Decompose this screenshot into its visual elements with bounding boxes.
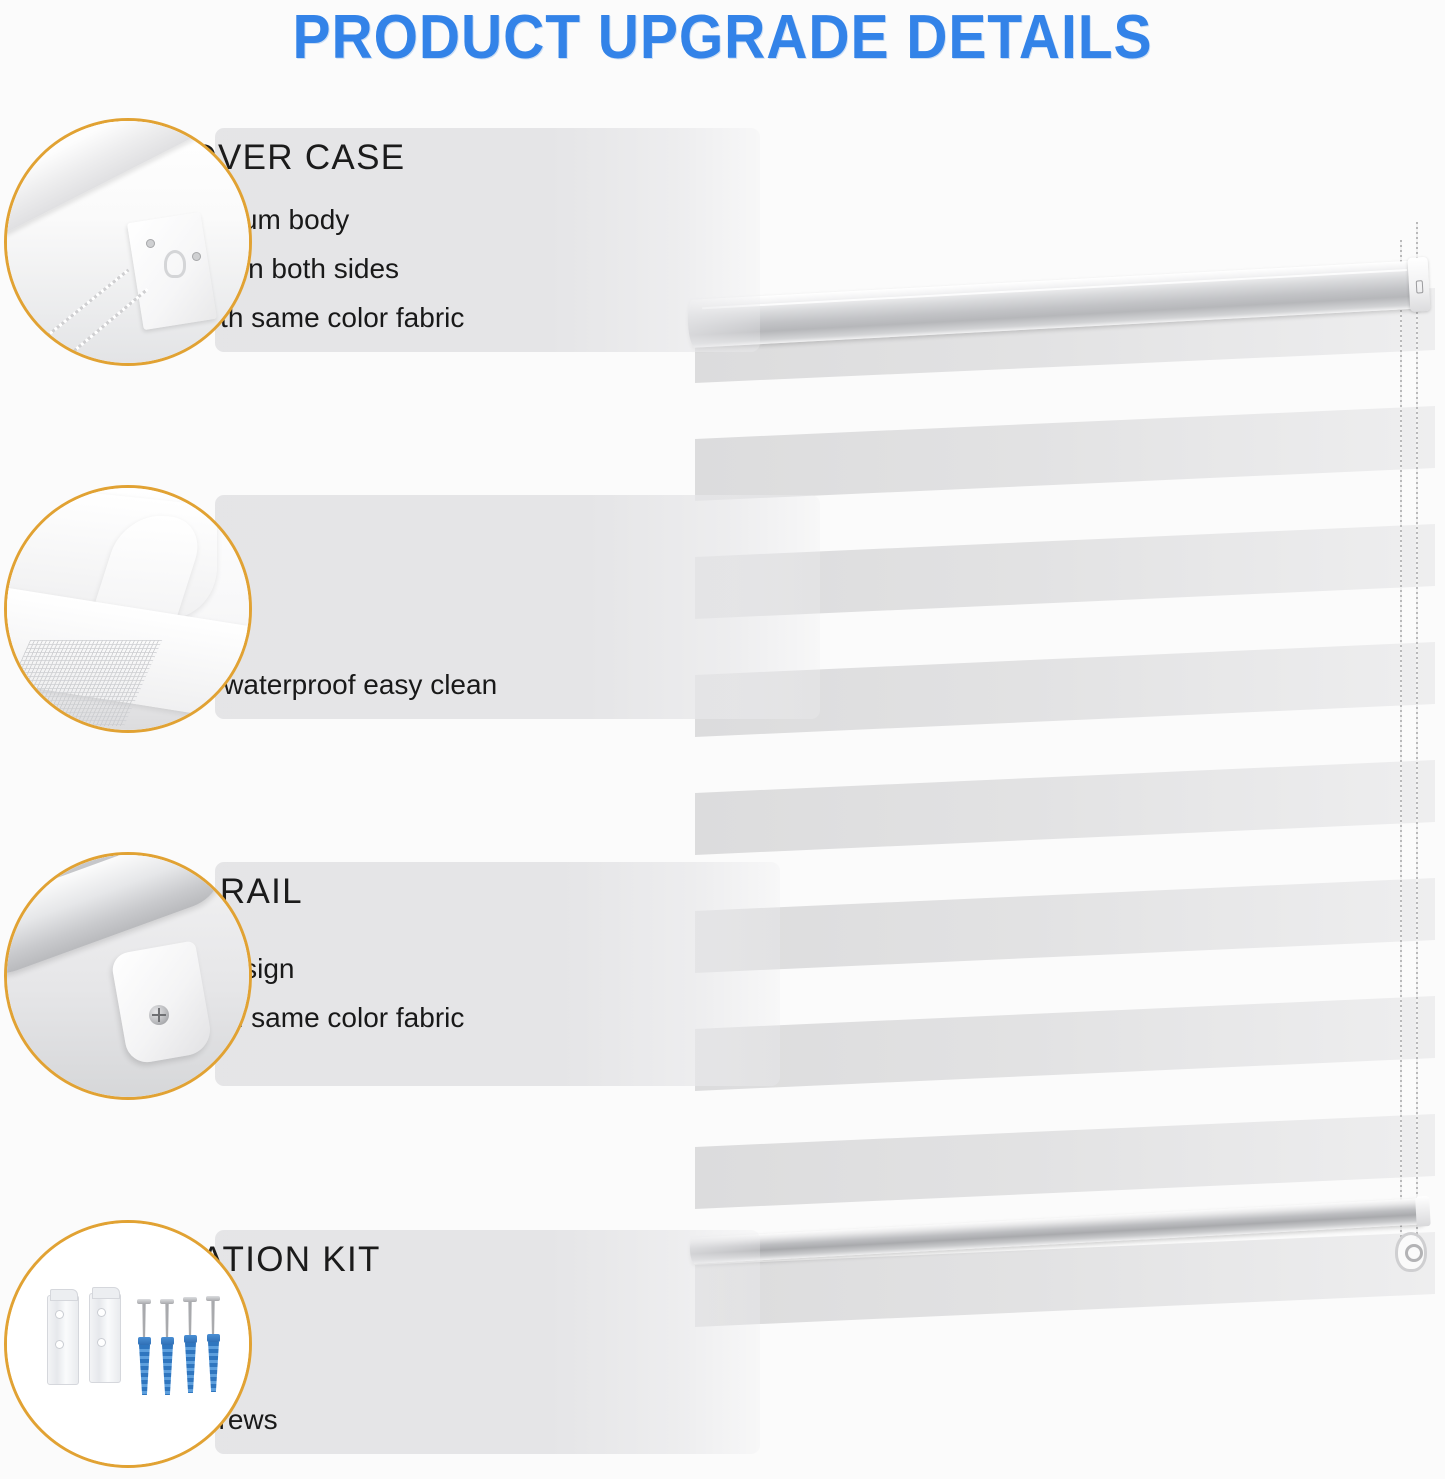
cassette-screw-icon xyxy=(146,239,155,248)
bottom-rail-photo xyxy=(7,855,249,1097)
bead-chain-strand-right xyxy=(1416,222,1418,1242)
screw-head xyxy=(183,1297,197,1302)
nylon-bolt-icon xyxy=(207,1334,220,1392)
bracket-tab xyxy=(92,1287,120,1299)
infographic-page: PRODUCT UPGRADE DETAILS DUST COVER CASE … xyxy=(0,0,1445,1479)
fabric-band xyxy=(695,1114,1435,1209)
plug-body xyxy=(162,1345,173,1395)
nylon-bolt-icon xyxy=(161,1337,174,1395)
fabric-band xyxy=(695,406,1435,501)
product-photo-zebra-blind xyxy=(660,150,1445,1340)
installation-hardware-photo xyxy=(7,1223,249,1465)
plug-body xyxy=(139,1345,150,1395)
chain-tensioner xyxy=(1395,1232,1427,1272)
plug-cap xyxy=(138,1337,151,1345)
page-title: PRODUCT UPGRADE DETAILS xyxy=(58,2,1387,73)
headrail-cassette-photo xyxy=(7,121,249,363)
feature-image-circle-bottom-rail xyxy=(4,852,252,1100)
fabric-mesh-texture xyxy=(4,640,162,726)
bottom-rail-end-cap xyxy=(1415,1196,1431,1227)
cassette-screw-icon xyxy=(192,252,201,261)
nylon-bolt-icon xyxy=(138,1337,151,1395)
cassette-body xyxy=(4,118,246,242)
fabric-band xyxy=(695,760,1435,855)
screw-head xyxy=(137,1299,151,1304)
plug-cap xyxy=(184,1335,197,1343)
nylon-bolt-icon xyxy=(184,1335,197,1393)
blind-fabric-panel xyxy=(695,270,1435,1340)
feature-image-circle-fabrics xyxy=(4,485,252,733)
plug-cap xyxy=(161,1337,174,1345)
l-bracket-icon xyxy=(89,1293,121,1383)
plug-cap xyxy=(207,1334,220,1342)
fabric-band xyxy=(695,996,1435,1091)
bracket-tab xyxy=(50,1289,78,1301)
screw-icon xyxy=(149,1005,169,1025)
bead-chain xyxy=(28,269,129,352)
screw-head xyxy=(160,1299,174,1304)
folded-fabric-photo xyxy=(7,488,249,730)
headrail-end-cap xyxy=(1407,257,1430,312)
bottom-rail-end-cap xyxy=(110,940,214,1065)
screw-head xyxy=(206,1296,220,1301)
fabric-band xyxy=(695,878,1435,973)
feature-image-circle-installation-kit xyxy=(4,1220,252,1468)
l-bracket-icon xyxy=(47,1295,79,1385)
feature-image-circle-dust-cover-case xyxy=(4,118,252,366)
cassette-hook-icon xyxy=(164,250,186,278)
bead-chain xyxy=(64,288,149,360)
bead-chain-strand-left xyxy=(1400,240,1402,1240)
plug-body xyxy=(208,1342,219,1392)
plug-body xyxy=(185,1343,196,1393)
